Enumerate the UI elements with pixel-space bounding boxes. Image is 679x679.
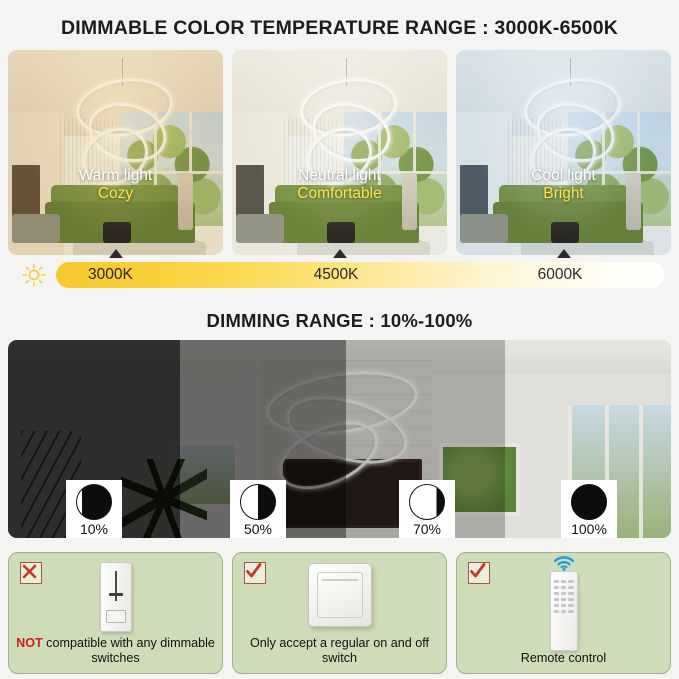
switch-plate [317, 572, 363, 618]
remote-button [554, 592, 559, 595]
caption-rest: Only accept a regular on and off switch [250, 636, 429, 666]
room-photo-warm [8, 50, 223, 255]
card-caption: Remote control [463, 651, 664, 667]
light-glow [8, 50, 223, 255]
scale-pointer-3000k [109, 249, 123, 258]
dim-level-label: 50% [230, 520, 286, 538]
card-not-compatible[interactable]: NOT compatible with any dimmable switche… [8, 552, 223, 674]
dim-disc-70 [409, 484, 445, 520]
dim-level-70[interactable]: 70% [399, 480, 455, 538]
dimmer-switch-illustration [100, 562, 132, 632]
card-regular-switch[interactable]: Only accept a regular on and off switch [232, 552, 447, 674]
caption-rest: compatible with any dimmable switches [43, 636, 215, 666]
remote-button [561, 580, 566, 583]
ct-panel-warm[interactable]: Warm light Cozy [8, 50, 223, 255]
dimmer-slot [115, 571, 117, 601]
remote-button-grid [554, 580, 574, 613]
card-remote-control[interactable]: Remote control [456, 552, 671, 674]
remote-button [561, 598, 566, 601]
dimmer-knob [109, 593, 123, 596]
remote-button [561, 592, 566, 595]
dim-level-label: 70% [399, 520, 455, 538]
remote-button [561, 604, 566, 607]
room-photo-cool [456, 50, 671, 255]
dimmer-rocker [106, 610, 126, 623]
kelvin-label-4500k: 4500K [276, 262, 396, 288]
compatibility-cards: NOT compatible with any dimmable switche… [8, 552, 671, 672]
remote-button [568, 598, 573, 601]
ct-panel-cool[interactable]: Cool light Bright [456, 50, 671, 255]
remote-button [568, 610, 573, 613]
color-temperature-panels: Warm light Cozy [8, 50, 671, 255]
dim-level-10[interactable]: 10% [66, 480, 122, 538]
kelvin-scale[interactable]: 3000K 4500K 6000K [0, 258, 679, 292]
card-caption: Only accept a regular on and off switch [239, 636, 440, 667]
ct-panel-neutral[interactable]: Neutral light Comfortable [232, 50, 447, 255]
remote-button [561, 610, 566, 613]
kelvin-label-6000k: 6000K [500, 262, 620, 288]
dimming-range-title: DIMMING RANGE : 10%-100% [0, 310, 679, 332]
scale-pointer-6000k [557, 249, 571, 258]
dim-disc-100 [571, 484, 607, 520]
remote-button [568, 580, 573, 583]
remote-button [554, 586, 559, 589]
scale-pointer-4500k [333, 249, 347, 258]
color-temperature-title: DIMMABLE COLOR TEMPERATURE RANGE : 3000K… [0, 17, 679, 40]
light-glow [232, 50, 447, 255]
dimming-demo-photo: 10% 50% 70% 100% [8, 340, 671, 538]
dim-level-100[interactable]: 100% [561, 480, 617, 538]
card-caption: NOT compatible with any dimmable switche… [15, 636, 216, 667]
dim-disc-50 [240, 484, 276, 520]
remote-button [568, 604, 573, 607]
light-glow [456, 50, 671, 255]
dim-disc-10 [76, 484, 112, 520]
kelvin-label-3000k: 3000K [62, 262, 218, 288]
dim-level-label: 100% [561, 520, 617, 538]
rocker-switch-illustration [308, 563, 372, 627]
dim-level-50[interactable]: 50% [230, 480, 286, 538]
check-mark-icon [244, 562, 266, 584]
remote-button [554, 580, 559, 583]
remote-button [554, 610, 559, 613]
room-photo-neutral [232, 50, 447, 255]
check-mark-icon [468, 562, 490, 584]
remote-control-illustration [550, 571, 578, 651]
remote-button [561, 586, 566, 589]
sun-icon [22, 263, 46, 287]
remote-button [568, 592, 573, 595]
remote-button [554, 598, 559, 601]
remote-button [554, 604, 559, 607]
remote-button [568, 586, 573, 589]
x-mark-icon [20, 562, 42, 584]
caption-rest: Remote control [521, 651, 606, 665]
caption-emphasis: NOT [16, 636, 43, 650]
dim-level-label: 10% [66, 520, 122, 538]
